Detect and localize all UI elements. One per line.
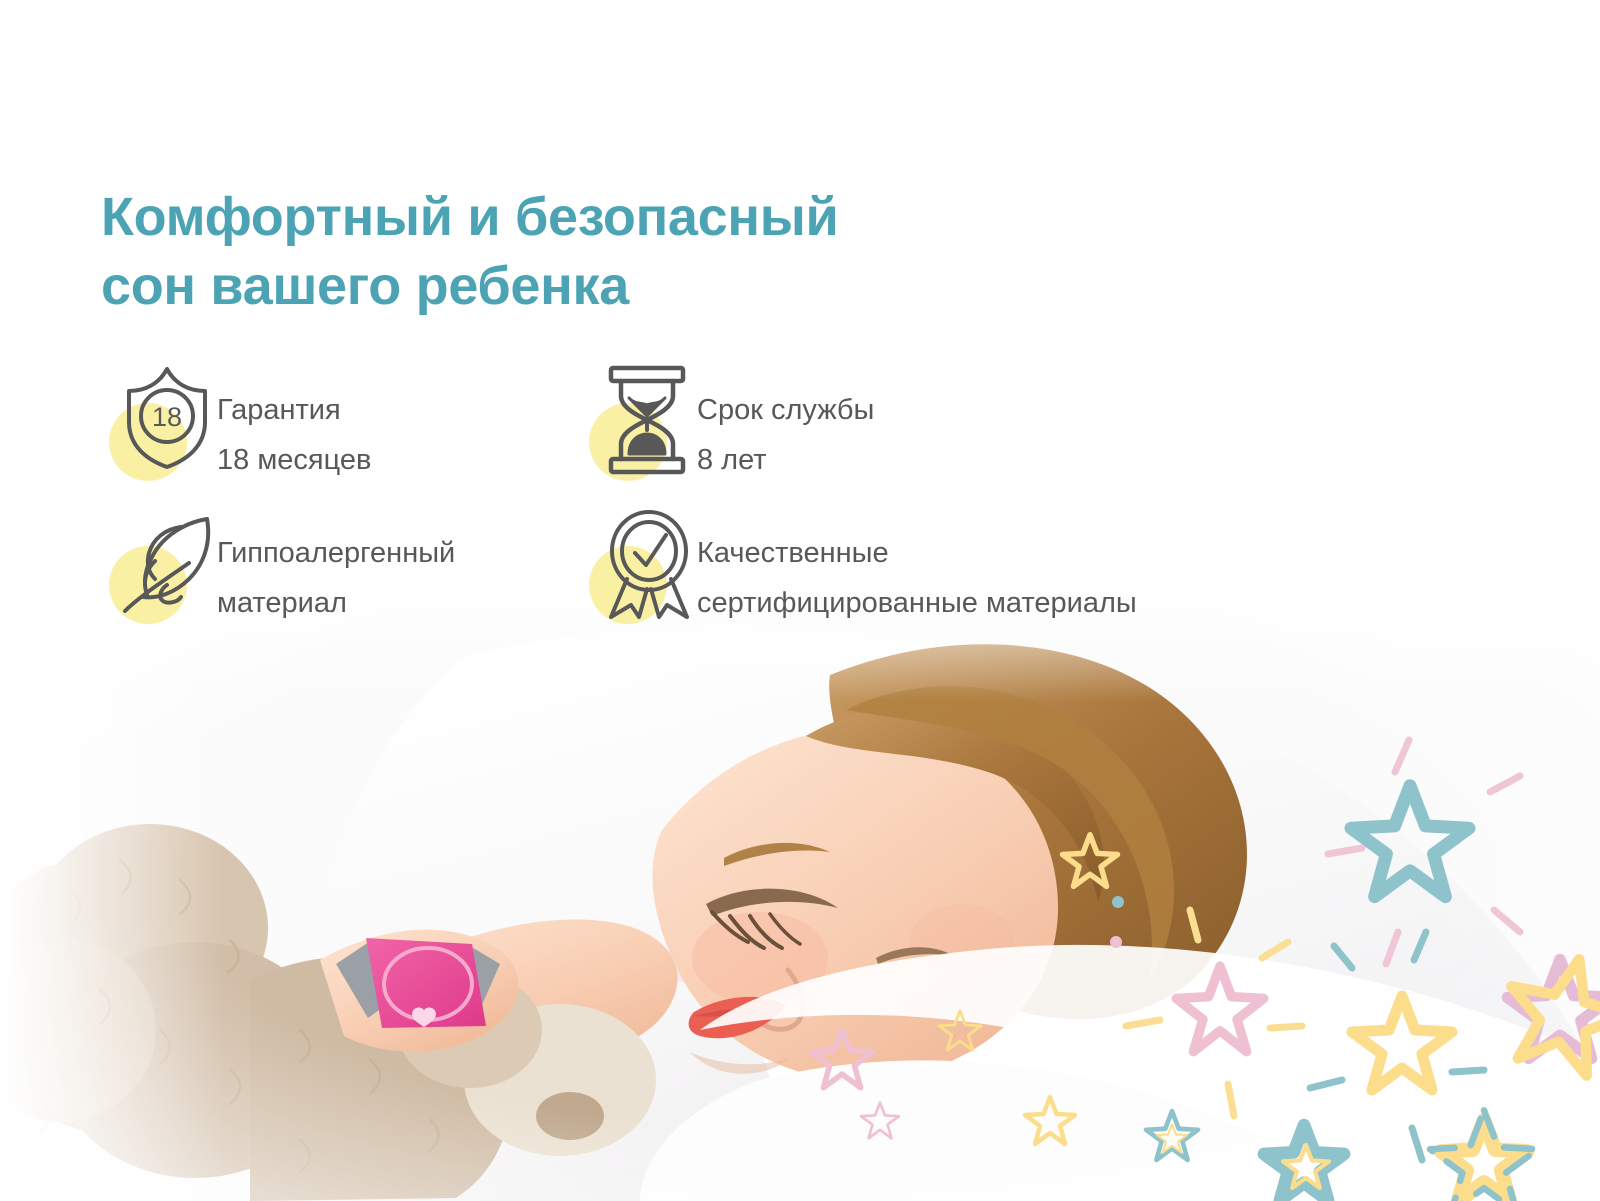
- feature-icon-wrap: 18: [101, 362, 217, 487]
- feature-line-2: 18 месяцев: [217, 436, 371, 486]
- feature-line-2: сертифицированные материалы: [697, 579, 1137, 629]
- feature-icon-wrap: [581, 362, 697, 487]
- hourglass-icon: [605, 364, 689, 476]
- sleeping-child-photo: [0, 560, 1600, 1201]
- feature-hypoallergenic: Гиппоалергенный материал: [101, 505, 581, 630]
- feature-text: Качественные сертифицированные материалы: [697, 505, 1137, 629]
- feature-text: Гарантия 18 месяцев: [217, 362, 371, 486]
- feature-guarantee: 18 Гарантия 18 месяцев: [101, 362, 581, 487]
- feature-line-1: Гарантия: [217, 386, 371, 436]
- page-title: Комфортный и безопасный сон вашего ребен…: [101, 183, 838, 321]
- feature-line-1: Качественные: [697, 529, 1137, 579]
- shield-badge-number: 18: [152, 402, 182, 432]
- feature-certified-materials: Качественные сертифицированные материалы: [581, 505, 1381, 630]
- feather-icon: [119, 511, 215, 613]
- feature-line-2: материал: [217, 579, 455, 629]
- feature-list: 18 Гарантия 18 месяцев: [101, 362, 1401, 630]
- feature-icon-wrap: [101, 505, 217, 630]
- headline-line-1: Комфортный и безопасный: [101, 183, 838, 252]
- feature-icon-wrap: [581, 505, 697, 630]
- promo-banner: Комфортный и безопасный сон вашего ребен…: [0, 0, 1600, 1201]
- feature-row-2: Гиппоалергенный материал: [101, 505, 1401, 630]
- feature-text: Срок службы 8 лет: [697, 362, 874, 486]
- headline-line-2: сон вашего ребенка: [101, 252, 838, 321]
- feature-line-1: Срок службы: [697, 386, 874, 436]
- feature-text: Гиппоалергенный материал: [217, 505, 455, 629]
- feature-service-life: Срок службы 8 лет: [581, 362, 1381, 487]
- feature-row-1: 18 Гарантия 18 месяцев: [101, 362, 1401, 487]
- feature-line-1: Гиппоалергенный: [217, 529, 455, 579]
- shield-18-icon: 18: [121, 364, 213, 472]
- feature-line-2: 8 лет: [697, 436, 874, 486]
- award-check-icon: [603, 509, 695, 621]
